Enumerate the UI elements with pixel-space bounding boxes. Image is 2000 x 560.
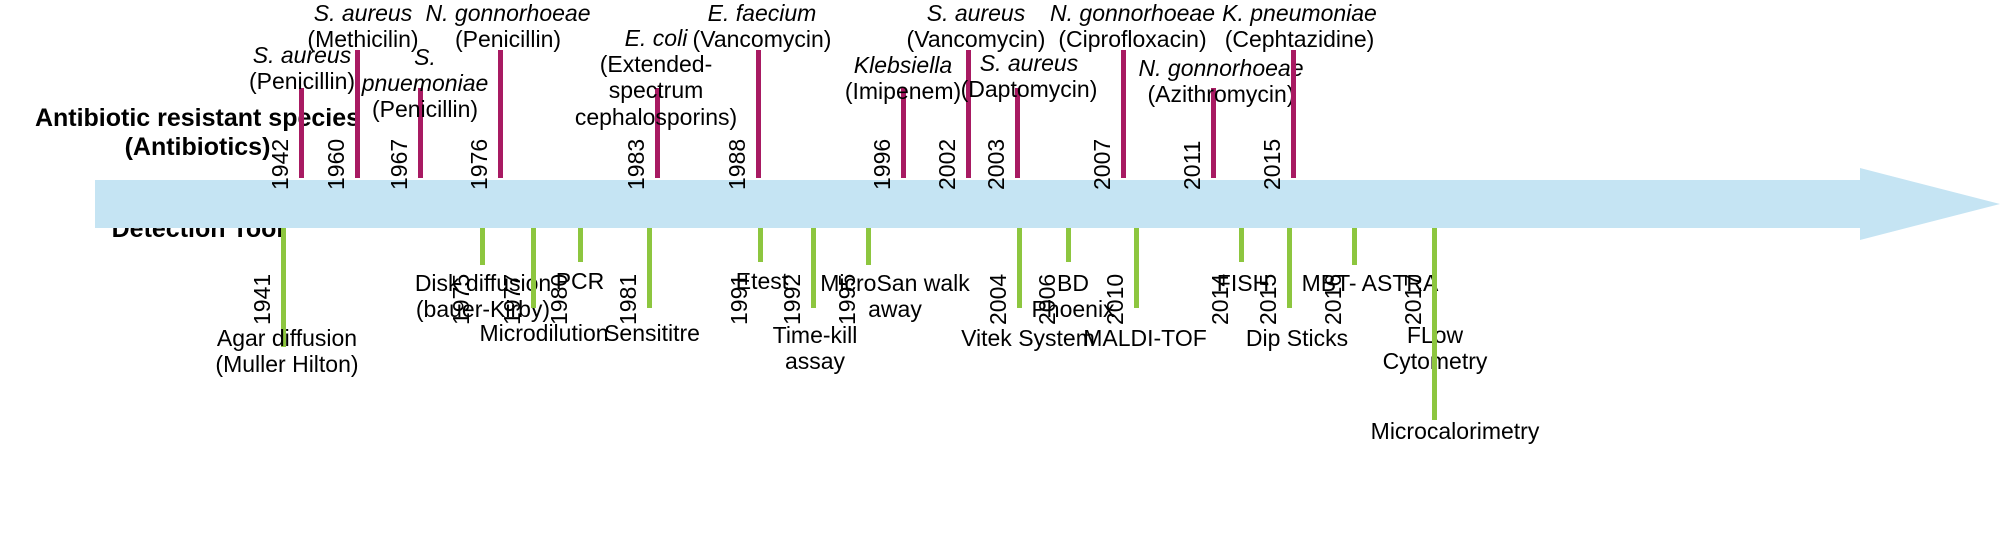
antibiotic-name: (Penicillin) (455, 26, 561, 52)
resistance-event-year: 2003 (983, 139, 1010, 190)
timeline-figure: Antibiotic resistant species (Antibiotic… (0, 0, 2000, 560)
detection-tool-label: Sensititre (578, 320, 726, 346)
antibiotic-name: (Penicillin) (249, 68, 355, 94)
resistance-event-year: 1988 (724, 139, 751, 190)
resistance-event-stem (1121, 50, 1126, 178)
resistance-event-year: 2015 (1259, 139, 1286, 190)
resistance-event-year: 1983 (623, 139, 650, 190)
detection-tool-stem (531, 228, 536, 308)
species-name: N. gonnorhoeae (1139, 55, 1304, 81)
antibiotic-name: (Ciprofloxacin) (1058, 26, 1206, 52)
resistance-event-year: 1976 (466, 139, 493, 190)
detection-tool-year: 2004 (985, 274, 1012, 325)
detection-tool-stem (1352, 228, 1357, 265)
resistance-event-label: N. gonnorhoeae(Ciprofloxacin) (1040, 0, 1225, 52)
resistance-event-label: S. aureus(Vancomycin) (896, 0, 1056, 52)
antibiotic-name: (Vancomycin) (693, 26, 832, 52)
resistance-event-stem (498, 50, 503, 178)
resistance-event-stem (299, 88, 304, 178)
resistance-event-stem (1291, 50, 1296, 178)
detection-tool-year: 1992 (779, 274, 806, 325)
detection-tool-stem (758, 228, 763, 262)
detection-tool-label: Agar diffusion (Muller Hilton) (213, 325, 361, 377)
detection-tool-stem (811, 228, 816, 308)
detection-tool-year: 1977 (499, 274, 526, 325)
resistance-event-year: 2007 (1089, 139, 1116, 190)
antibiotic-name: (Imipenem) (845, 78, 961, 104)
antibiotic-name: (Vancomycin) (907, 26, 1046, 52)
species-name: E. coli (625, 25, 688, 51)
detection-tool-label: MALDI-TOF (1060, 325, 1230, 351)
detection-tool-stem (578, 228, 583, 262)
resistance-event-label: E. faecium(Vancomycin) (680, 0, 844, 52)
resistance-event-year: 2002 (934, 139, 961, 190)
detection-tool-stem (1432, 228, 1437, 420)
detection-tool-label: PCR (540, 268, 620, 294)
resistance-event-stem (756, 50, 761, 178)
timeline-arrow-shape (95, 168, 2000, 240)
detection-tool-stem (1134, 228, 1139, 308)
resistance-event-year: 1996 (869, 139, 896, 190)
detection-tool-year: 2017 (1400, 274, 1427, 325)
resistance-event-label: K. pneumoniae(Cephtazidine) (1207, 0, 1392, 52)
detection-tool-label: Dip Sticks (1222, 325, 1372, 351)
species-name: N. gonnorhoeae (1050, 0, 1215, 26)
species-name: K. pneumoniae (1222, 0, 1377, 26)
resistance-event-year: 1960 (323, 139, 350, 190)
antibiotic-name: (Cephtazidine) (1225, 26, 1375, 52)
resistance-event-year: 1967 (386, 139, 413, 190)
detection-tool-stem (647, 228, 652, 308)
detection-tool-stem (480, 228, 485, 265)
detection-tool-label: MicroSan walk away (820, 270, 970, 322)
detection-tool-label: MBT- ASTRA (1287, 270, 1453, 296)
resistance-event-label: S. aureus(Daptomycin) (949, 50, 1109, 102)
detection-tool-year: 1981 (615, 274, 642, 325)
detection-tool-stem (1066, 228, 1071, 262)
detection-tool-label: Time-kill assay (748, 322, 882, 374)
antibiotic-name: (Extended-spectrum cephalosporins) (575, 51, 737, 129)
detection-tool-label: Microcalorimetry (1355, 418, 1555, 444)
resistance-event-year: 1942 (267, 139, 294, 190)
species-name: S. aureus (927, 0, 1025, 26)
resistance-event-label: N. gonnorhoeae(Azithromycin) (1128, 55, 1314, 107)
species-name: E. faecium (708, 0, 817, 26)
detection-tool-year: 1941 (249, 274, 276, 325)
timeline-arrow (95, 168, 2000, 240)
detection-tool-stem (866, 228, 871, 265)
antibiotic-name: (Penicillin) (372, 96, 478, 122)
species-name: Klebsiella (854, 52, 952, 78)
resistance-event-label: S. pnuemoniae(Penicillin) (352, 44, 498, 123)
antibiotic-name: (Azithromycin) (1148, 81, 1295, 107)
resistance-event-year: 2011 (1179, 141, 1206, 190)
detection-tool-year: 2010 (1102, 274, 1129, 325)
species-name: N. gonnorhoeae (426, 0, 591, 26)
detection-tool-stem (1239, 228, 1244, 262)
species-name: S. aureus (980, 50, 1078, 76)
antibiotic-name: (Daptomycin) (961, 76, 1098, 102)
species-name: S. aureus (314, 0, 412, 26)
detection-tool-year: 2015 (1255, 274, 1282, 325)
